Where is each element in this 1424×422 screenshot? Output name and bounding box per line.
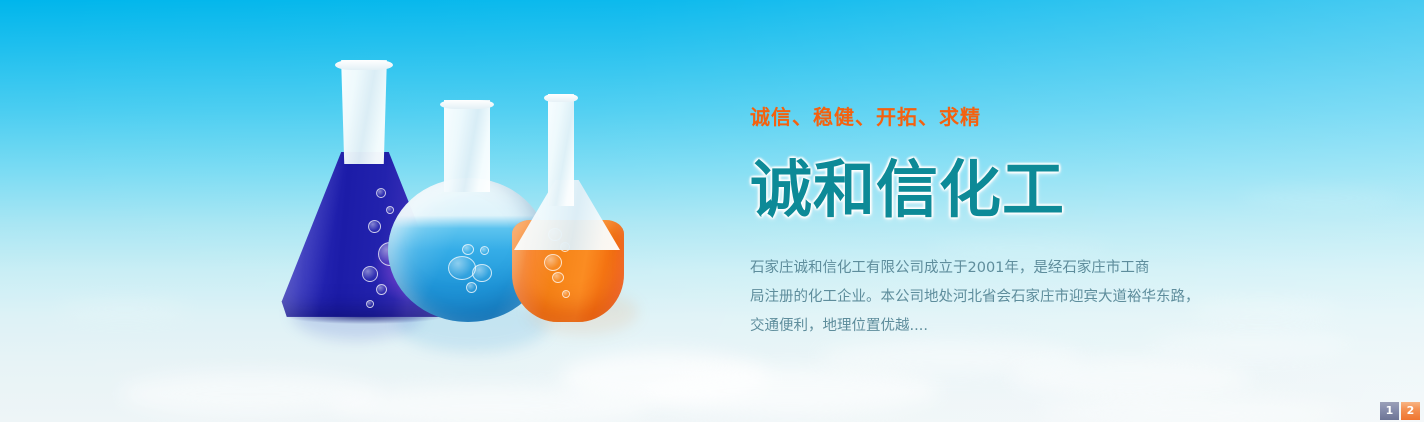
bubble-icon <box>552 272 564 283</box>
bubble-icon <box>544 254 562 271</box>
company-description: 石家庄诚和信化工有限公司成立于2001年，是经石家庄市工商 局注册的化工企业。本… <box>750 254 1202 341</box>
cloud-shape <box>560 352 770 404</box>
description-line: 石家庄诚和信化工有限公司成立于2001年，是经石家庄市工商 <box>750 254 1202 283</box>
cloud-shape <box>120 372 380 416</box>
bubble-icon <box>376 188 386 198</box>
bubble-icon <box>562 290 570 298</box>
bubble-icon <box>366 300 374 308</box>
bubble-icon <box>362 266 378 282</box>
company-slogan: 诚信、稳健、开拓、求精 <box>750 104 1270 130</box>
bubble-icon <box>376 284 387 295</box>
carousel-pagination[interactable]: 1 2 <box>1380 402 1420 420</box>
hero-banner: 诚信、稳健、开拓、求精 诚和信化工 石家庄诚和信化工有限公司成立于2001年，是… <box>0 0 1424 422</box>
cloud-shape <box>60 300 190 318</box>
pagination-button-2[interactable]: 2 <box>1401 402 1420 420</box>
company-title: 诚和信化工 <box>750 152 1270 228</box>
flask-neck <box>444 100 490 192</box>
flask-neck <box>548 94 574 206</box>
pear-shaped-flask-icon <box>508 94 632 322</box>
cloud-shape <box>330 386 650 422</box>
cloud-shape <box>820 340 1080 374</box>
bubble-icon <box>466 282 477 293</box>
bubble-icon <box>472 264 492 282</box>
flask-neck <box>338 60 390 164</box>
description-line: 交通便利，地理位置优越.... <box>750 312 1202 341</box>
flask-lip <box>440 100 494 109</box>
bubble-icon <box>480 246 489 255</box>
cloud-shape <box>640 368 940 414</box>
bubble-icon <box>368 220 381 233</box>
laboratory-flasks-illustration <box>270 52 660 352</box>
flask-lip <box>335 60 393 70</box>
bubble-icon <box>462 244 474 255</box>
flask-lip <box>544 94 578 102</box>
banner-text-block: 诚信、稳健、开拓、求精 诚和信化工 石家庄诚和信化工有限公司成立于2001年，是… <box>750 104 1270 341</box>
cloud-shape <box>1010 358 1250 398</box>
cloud-shape <box>1040 398 1340 422</box>
description-line: 局注册的化工企业。本公司地处河北省会石家庄市迎宾大道裕华东路， <box>750 283 1202 312</box>
pagination-button-1[interactable]: 1 <box>1380 402 1399 420</box>
